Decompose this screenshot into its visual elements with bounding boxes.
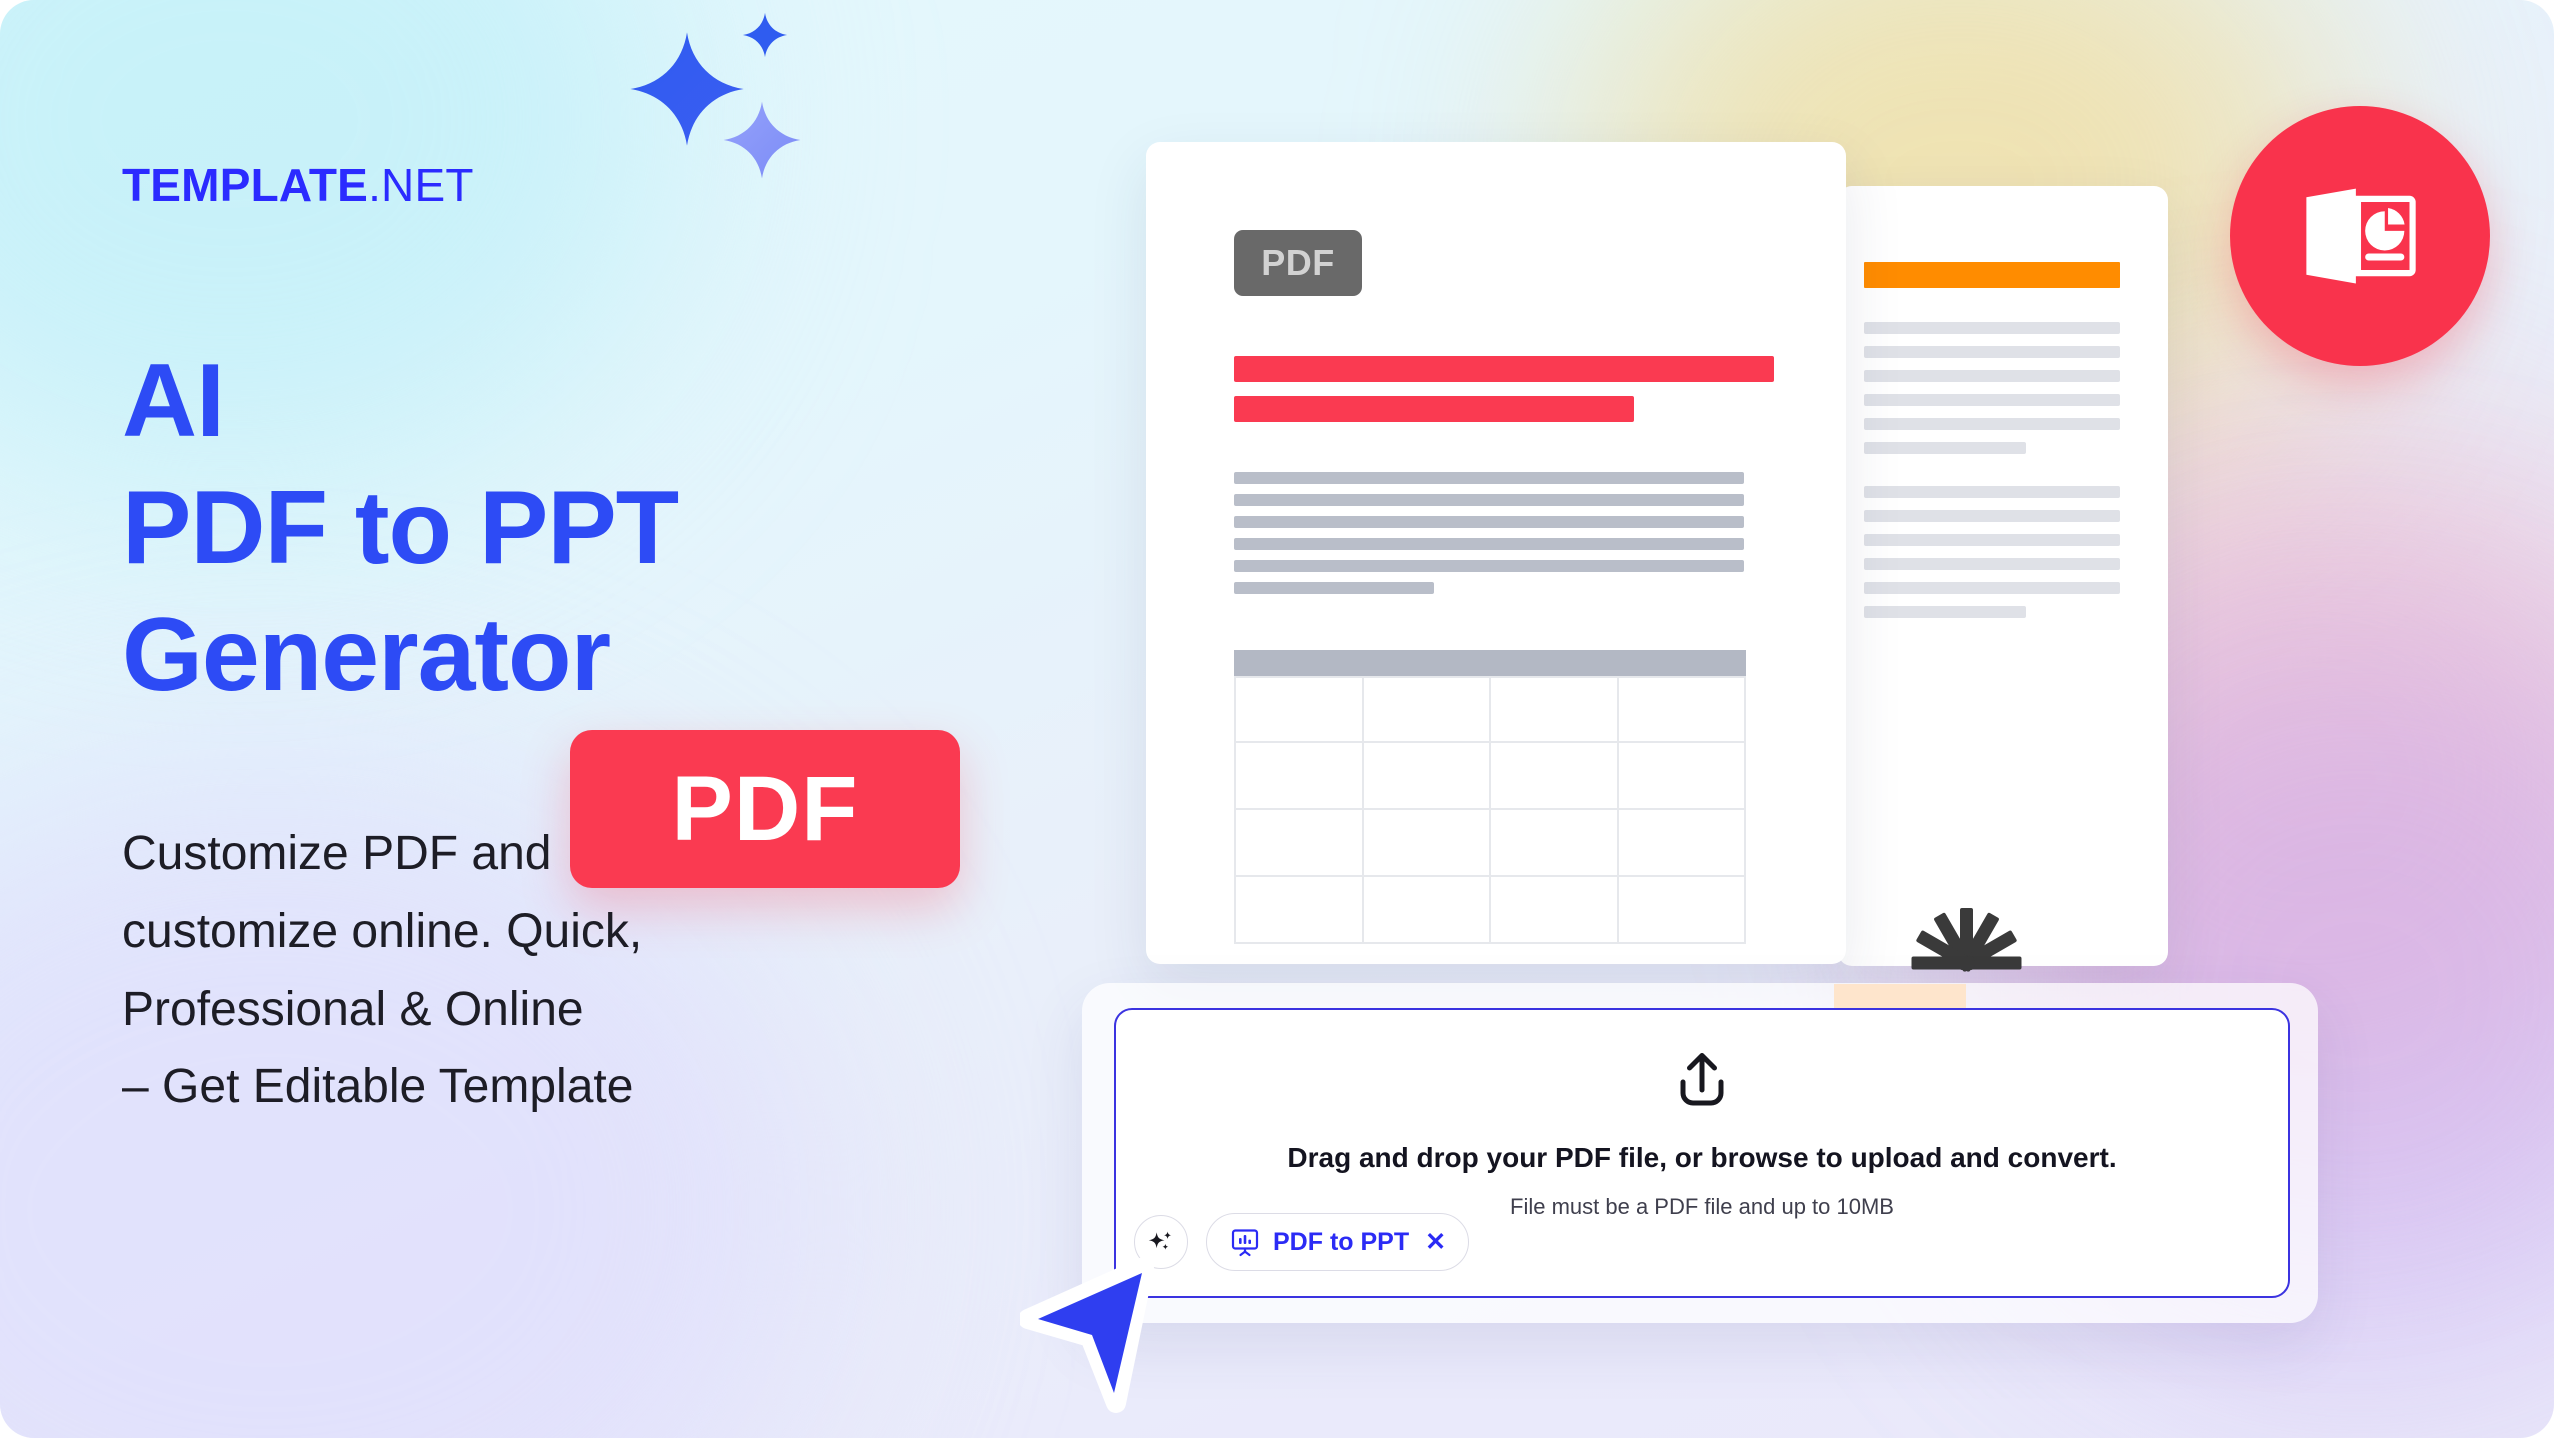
table-cell [1491, 676, 1619, 743]
doc-back-text-line [1864, 486, 2120, 498]
subcopy-line-1: Customize PDF and [122, 815, 882, 893]
hero-subcopy: Customize PDF and customize online. Quic… [122, 815, 882, 1126]
upload-instruction-text: Drag and drop your PDF file, or browse t… [1116, 1142, 2288, 1174]
subcopy-line-2: customize online. Quick, [122, 893, 882, 971]
doc-back-text-line [1864, 558, 2120, 570]
table-cell [1364, 676, 1492, 743]
powerpoint-icon [2294, 170, 2426, 302]
powerpoint-badge [2230, 106, 2490, 366]
brand-logo[interactable]: TEMPLATE.NET [122, 158, 474, 212]
document-mockup-front: PDF [1146, 142, 1846, 964]
doc-back-text-line [1864, 582, 2120, 594]
headline-line-3: Generator [122, 592, 962, 719]
file-drop-zone[interactable]: Drag and drop your PDF file, or browse t… [1114, 1008, 2290, 1298]
doc-front-text-line [1234, 560, 1744, 572]
table-cell [1491, 877, 1619, 944]
doc-front-text-line [1234, 516, 1744, 528]
presentation-chart-icon [1229, 1226, 1261, 1258]
table-cell [1364, 810, 1492, 877]
subcopy-line-3: Professional & Online [122, 971, 882, 1049]
page-title: AI PDF to PPT Generator [122, 338, 962, 719]
table-cell [1619, 877, 1747, 944]
subcopy-line-4: – Get Editable Template [122, 1048, 882, 1126]
table-cell [1236, 743, 1364, 810]
doc-back-text-line [1864, 346, 2120, 358]
headline-line-2: PDF to PPT [122, 465, 962, 592]
logo-light-part: .NET [368, 159, 474, 211]
sparkles-icon [1147, 1228, 1175, 1256]
doc-front-text-line [1234, 538, 1744, 550]
table-cell [1236, 877, 1364, 944]
table-cell [1491, 810, 1619, 877]
doc-back-text-line [1864, 418, 2120, 430]
doc-back-accent-bar [1864, 262, 2120, 288]
table-cell [1491, 743, 1619, 810]
conversion-type-chip[interactable]: PDF to PPT ✕ [1206, 1213, 1469, 1271]
close-icon[interactable]: ✕ [1425, 1230, 1446, 1255]
doc-front-text-line [1234, 582, 1434, 594]
doc-front-title-bar [1234, 356, 1774, 382]
table-cell [1236, 676, 1364, 743]
chip-label: PDF to PPT [1273, 1228, 1409, 1257]
doc-back-text-line [1864, 322, 2120, 334]
cursor-pointer-icon [1020, 1255, 1170, 1420]
doc-back-text-line [1864, 394, 2120, 406]
doc-front-table [1234, 650, 1746, 944]
doc-back-text-line [1864, 510, 2120, 522]
table-cell [1619, 743, 1747, 810]
doc-back-text-line [1864, 606, 2026, 618]
table-header-row [1234, 650, 1746, 676]
doc-front-subtitle-bar [1234, 396, 1634, 422]
document-mockup-back [1838, 186, 2168, 966]
doc-back-text-line [1864, 534, 2120, 546]
upload-icon [1675, 1052, 1729, 1115]
doc-back-text-line [1864, 370, 2120, 382]
hero-banner: TEMPLATE.NET AI PDF to PPT Generator Cus… [0, 0, 2554, 1438]
doc-front-text-line [1234, 472, 1744, 484]
hero-text-column: TEMPLATE.NET AI PDF to PPT Generator Cus… [122, 0, 1122, 1438]
table-cell [1364, 877, 1492, 944]
headline-line-1: AI [122, 338, 962, 465]
doc-front-text-line [1234, 494, 1744, 506]
logo-bold-part: TEMPLATE [122, 159, 368, 211]
doc-back-text-line [1864, 442, 2026, 454]
table-body [1234, 676, 1746, 944]
table-cell [1364, 743, 1492, 810]
table-cell [1236, 810, 1364, 877]
pdf-file-tag: PDF [1234, 230, 1362, 296]
table-cell [1619, 676, 1747, 743]
table-cell [1619, 810, 1747, 877]
